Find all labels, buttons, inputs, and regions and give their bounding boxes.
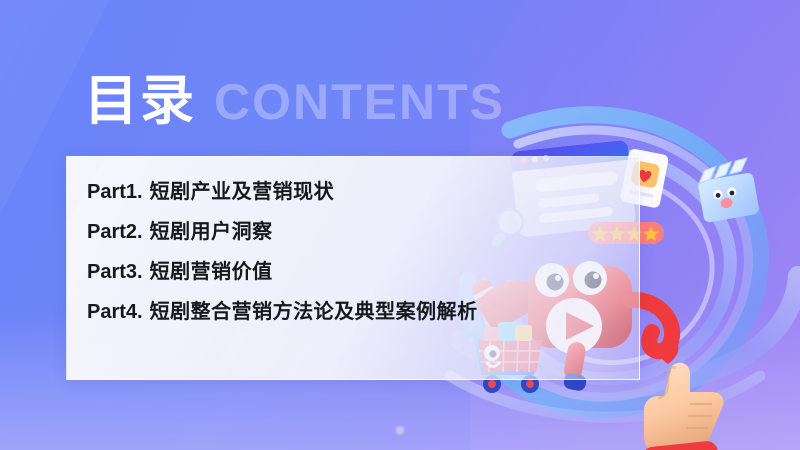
- list-item-title: 短剧营销价值: [150, 257, 273, 287]
- list-item-title: 短剧用户洞察: [150, 217, 273, 247]
- list-item[interactable]: Part1. 短剧产业及营销现状: [87, 177, 629, 207]
- list-item-title: 短剧产业及营销现状: [150, 177, 335, 207]
- list-item[interactable]: Part3. 短剧营销价值: [87, 257, 629, 287]
- contents-list: Part1. 短剧产业及营销现状 Part2. 短剧用户洞察 Part3. 短剧…: [87, 177, 629, 327]
- list-item-part-label: Part2.: [87, 217, 143, 247]
- list-item-part-label: Part1.: [87, 177, 143, 207]
- list-item-part-label: Part4.: [87, 297, 143, 327]
- presentation-slide: 目录 CONTENTS Part1. 短剧产业及营销现状 Part2. 短剧用户…: [0, 0, 800, 450]
- page-title-cn: 目录: [84, 74, 196, 128]
- slide-header: 目录 CONTENTS: [84, 74, 505, 128]
- list-item[interactable]: Part4. 短剧整合营销方法论及典型案例解析: [87, 297, 629, 327]
- background-diagonal-accent-secondary: [0, 0, 20, 450]
- page-title-en: CONTENTS: [214, 77, 505, 127]
- contents-panel: Part1. 短剧产业及营销现状 Part2. 短剧用户洞察 Part3. 短剧…: [66, 156, 640, 380]
- list-item[interactable]: Part2. 短剧用户洞察: [87, 217, 629, 247]
- list-item-part-label: Part3.: [87, 257, 143, 287]
- list-item-title: 短剧整合营销方法论及典型案例解析: [150, 297, 478, 327]
- page-marker: [397, 427, 404, 434]
